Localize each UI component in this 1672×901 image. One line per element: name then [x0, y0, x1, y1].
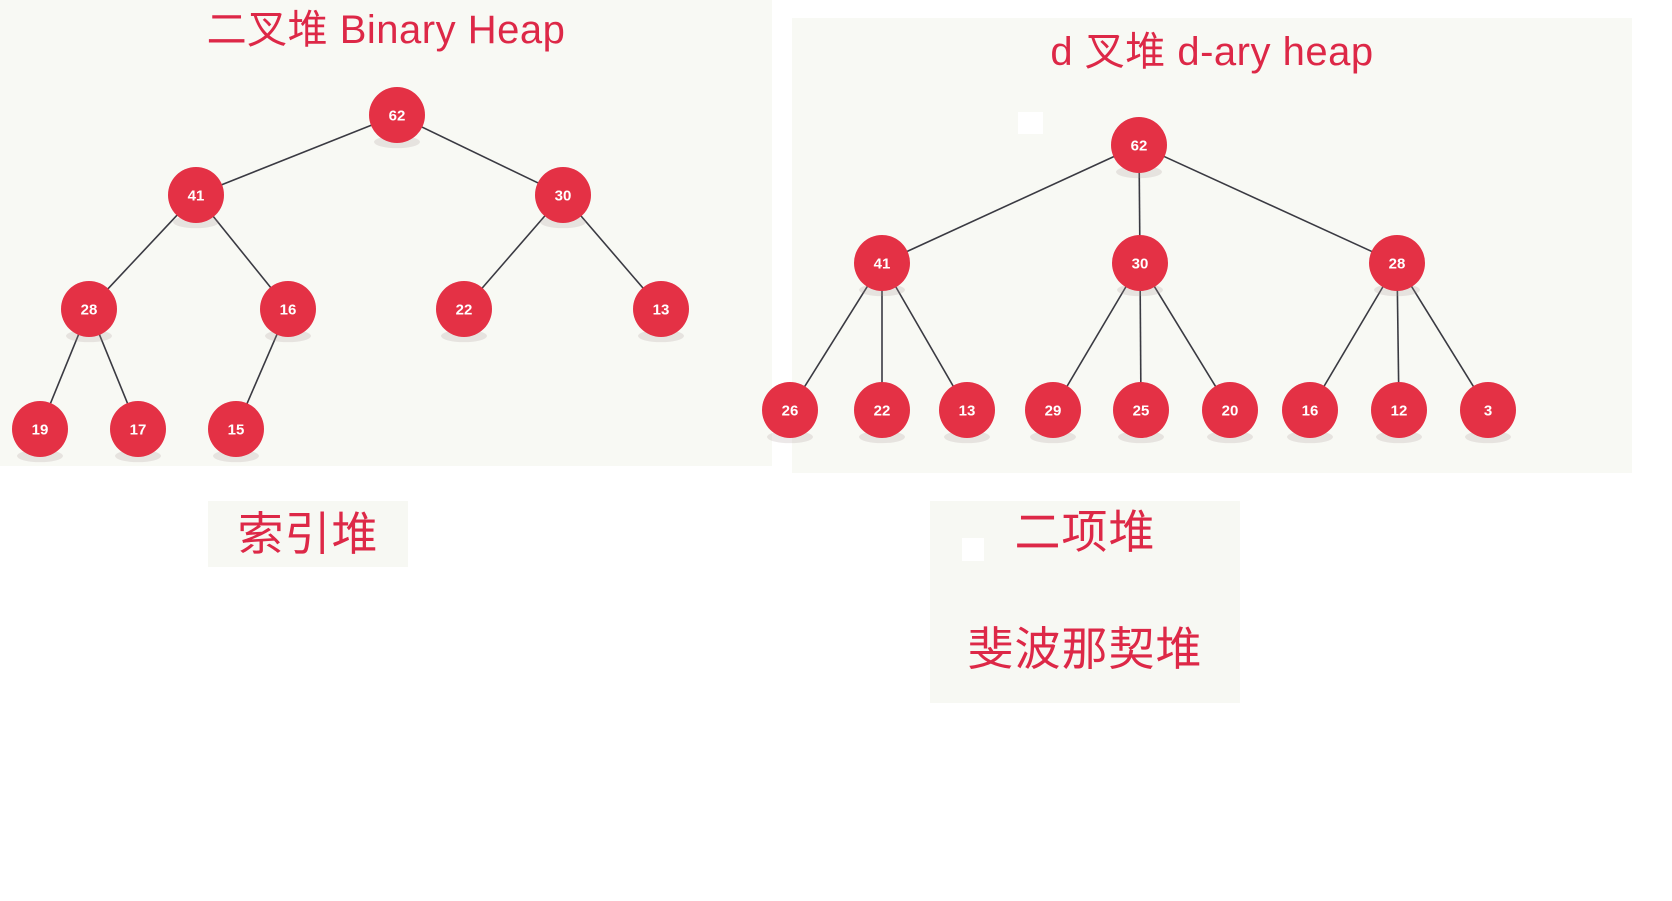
tree-edge	[212, 215, 271, 289]
tree-node[interactable]: 41	[168, 167, 224, 228]
node-value-label: 17	[130, 422, 147, 439]
tree-node[interactable]: 41	[854, 235, 910, 296]
node-value-label: 30	[1132, 256, 1149, 273]
tree-edge	[99, 333, 128, 405]
tree-edge	[481, 215, 546, 290]
tree-node[interactable]: 30	[1112, 235, 1168, 296]
node-value-label: 41	[874, 256, 891, 273]
dary-heap-diagram: 6241302826221329252016123	[792, 18, 1632, 473]
tree-edge	[1323, 285, 1384, 387]
tree-node[interactable]: 13	[633, 281, 689, 342]
tree-node[interactable]: 62	[1111, 117, 1167, 178]
node-value-label: 62	[389, 108, 406, 125]
node-value-label: 29	[1045, 403, 1062, 420]
dary-heap-panel: d 叉堆 d-ary heap 624130282622132925201612…	[792, 18, 1632, 473]
node-value-label: 28	[81, 302, 98, 319]
tree-edge	[220, 125, 373, 186]
tree-edge	[1163, 156, 1374, 252]
tree-edge	[50, 333, 79, 405]
tree-node[interactable]: 28	[1369, 235, 1425, 296]
tree-node[interactable]: 3	[1460, 382, 1516, 443]
tree-edge	[895, 286, 954, 388]
tree-node[interactable]: 22	[436, 281, 492, 342]
tree-node[interactable]: 25	[1113, 382, 1169, 443]
tree-node[interactable]: 15	[208, 401, 264, 462]
tree-edge	[580, 215, 644, 290]
tree-edge	[420, 126, 539, 183]
tree-edge	[1397, 289, 1398, 384]
node-value-label: 22	[874, 403, 891, 420]
node-value-label: 16	[1302, 403, 1319, 420]
node-value-label: 19	[32, 422, 49, 439]
node-value-label: 28	[1389, 256, 1406, 273]
tree-node[interactable]: 26	[762, 382, 818, 443]
tree-edge	[246, 333, 277, 405]
node-value-label: 13	[653, 302, 670, 319]
white-block-artifact-bottom	[962, 538, 984, 561]
node-value-label: 20	[1222, 403, 1239, 420]
tree-node[interactable]: 28	[61, 281, 117, 342]
tree-edge	[1411, 285, 1475, 388]
index-heap-label: 索引堆	[238, 511, 379, 557]
tree-node[interactable]: 30	[535, 167, 591, 228]
node-value-label: 3	[1484, 403, 1492, 420]
tree-node[interactable]: 12	[1371, 382, 1427, 443]
node-value-label: 25	[1133, 403, 1150, 420]
tree-node[interactable]: 19	[12, 401, 68, 462]
node-value-label: 15	[228, 422, 245, 439]
index-heap-label-card: 索引堆	[208, 501, 408, 567]
node-value-label: 12	[1391, 403, 1408, 420]
tree-edge	[1154, 285, 1217, 388]
tree-node[interactable]: 62	[369, 87, 425, 148]
tree-node[interactable]: 20	[1202, 382, 1258, 443]
tree-edge	[107, 214, 178, 290]
tree-node[interactable]: 13	[939, 382, 995, 443]
tree-node[interactable]: 16	[260, 281, 316, 342]
tree-edge	[804, 285, 868, 388]
fibonacci-heap-label: 斐波那契堆	[930, 626, 1240, 672]
tree-edge	[1139, 171, 1140, 237]
advanced-heaps-label-card: 二项堆 斐波那契堆	[930, 501, 1240, 703]
node-value-label: 16	[280, 302, 297, 319]
tree-edge	[906, 156, 1116, 252]
node-value-label: 62	[1131, 138, 1148, 155]
tree-node[interactable]: 16	[1282, 382, 1338, 443]
node-value-label: 30	[555, 188, 572, 205]
node-value-label: 13	[959, 403, 976, 420]
binary-heap-panel: 二叉堆 Binary Heap 62413028162213191715	[0, 0, 772, 466]
node-value-label: 26	[782, 403, 799, 420]
tree-node[interactable]: 22	[854, 382, 910, 443]
tree-edge	[1140, 289, 1141, 384]
tree-node[interactable]: 29	[1025, 382, 1081, 443]
node-value-label: 22	[456, 302, 473, 319]
node-value-label: 41	[188, 188, 205, 205]
tree-edge	[1066, 285, 1127, 387]
tree-node[interactable]: 17	[110, 401, 166, 462]
binary-heap-diagram: 62413028162213191715	[0, 0, 772, 466]
white-block-artifact-top	[1018, 112, 1043, 134]
